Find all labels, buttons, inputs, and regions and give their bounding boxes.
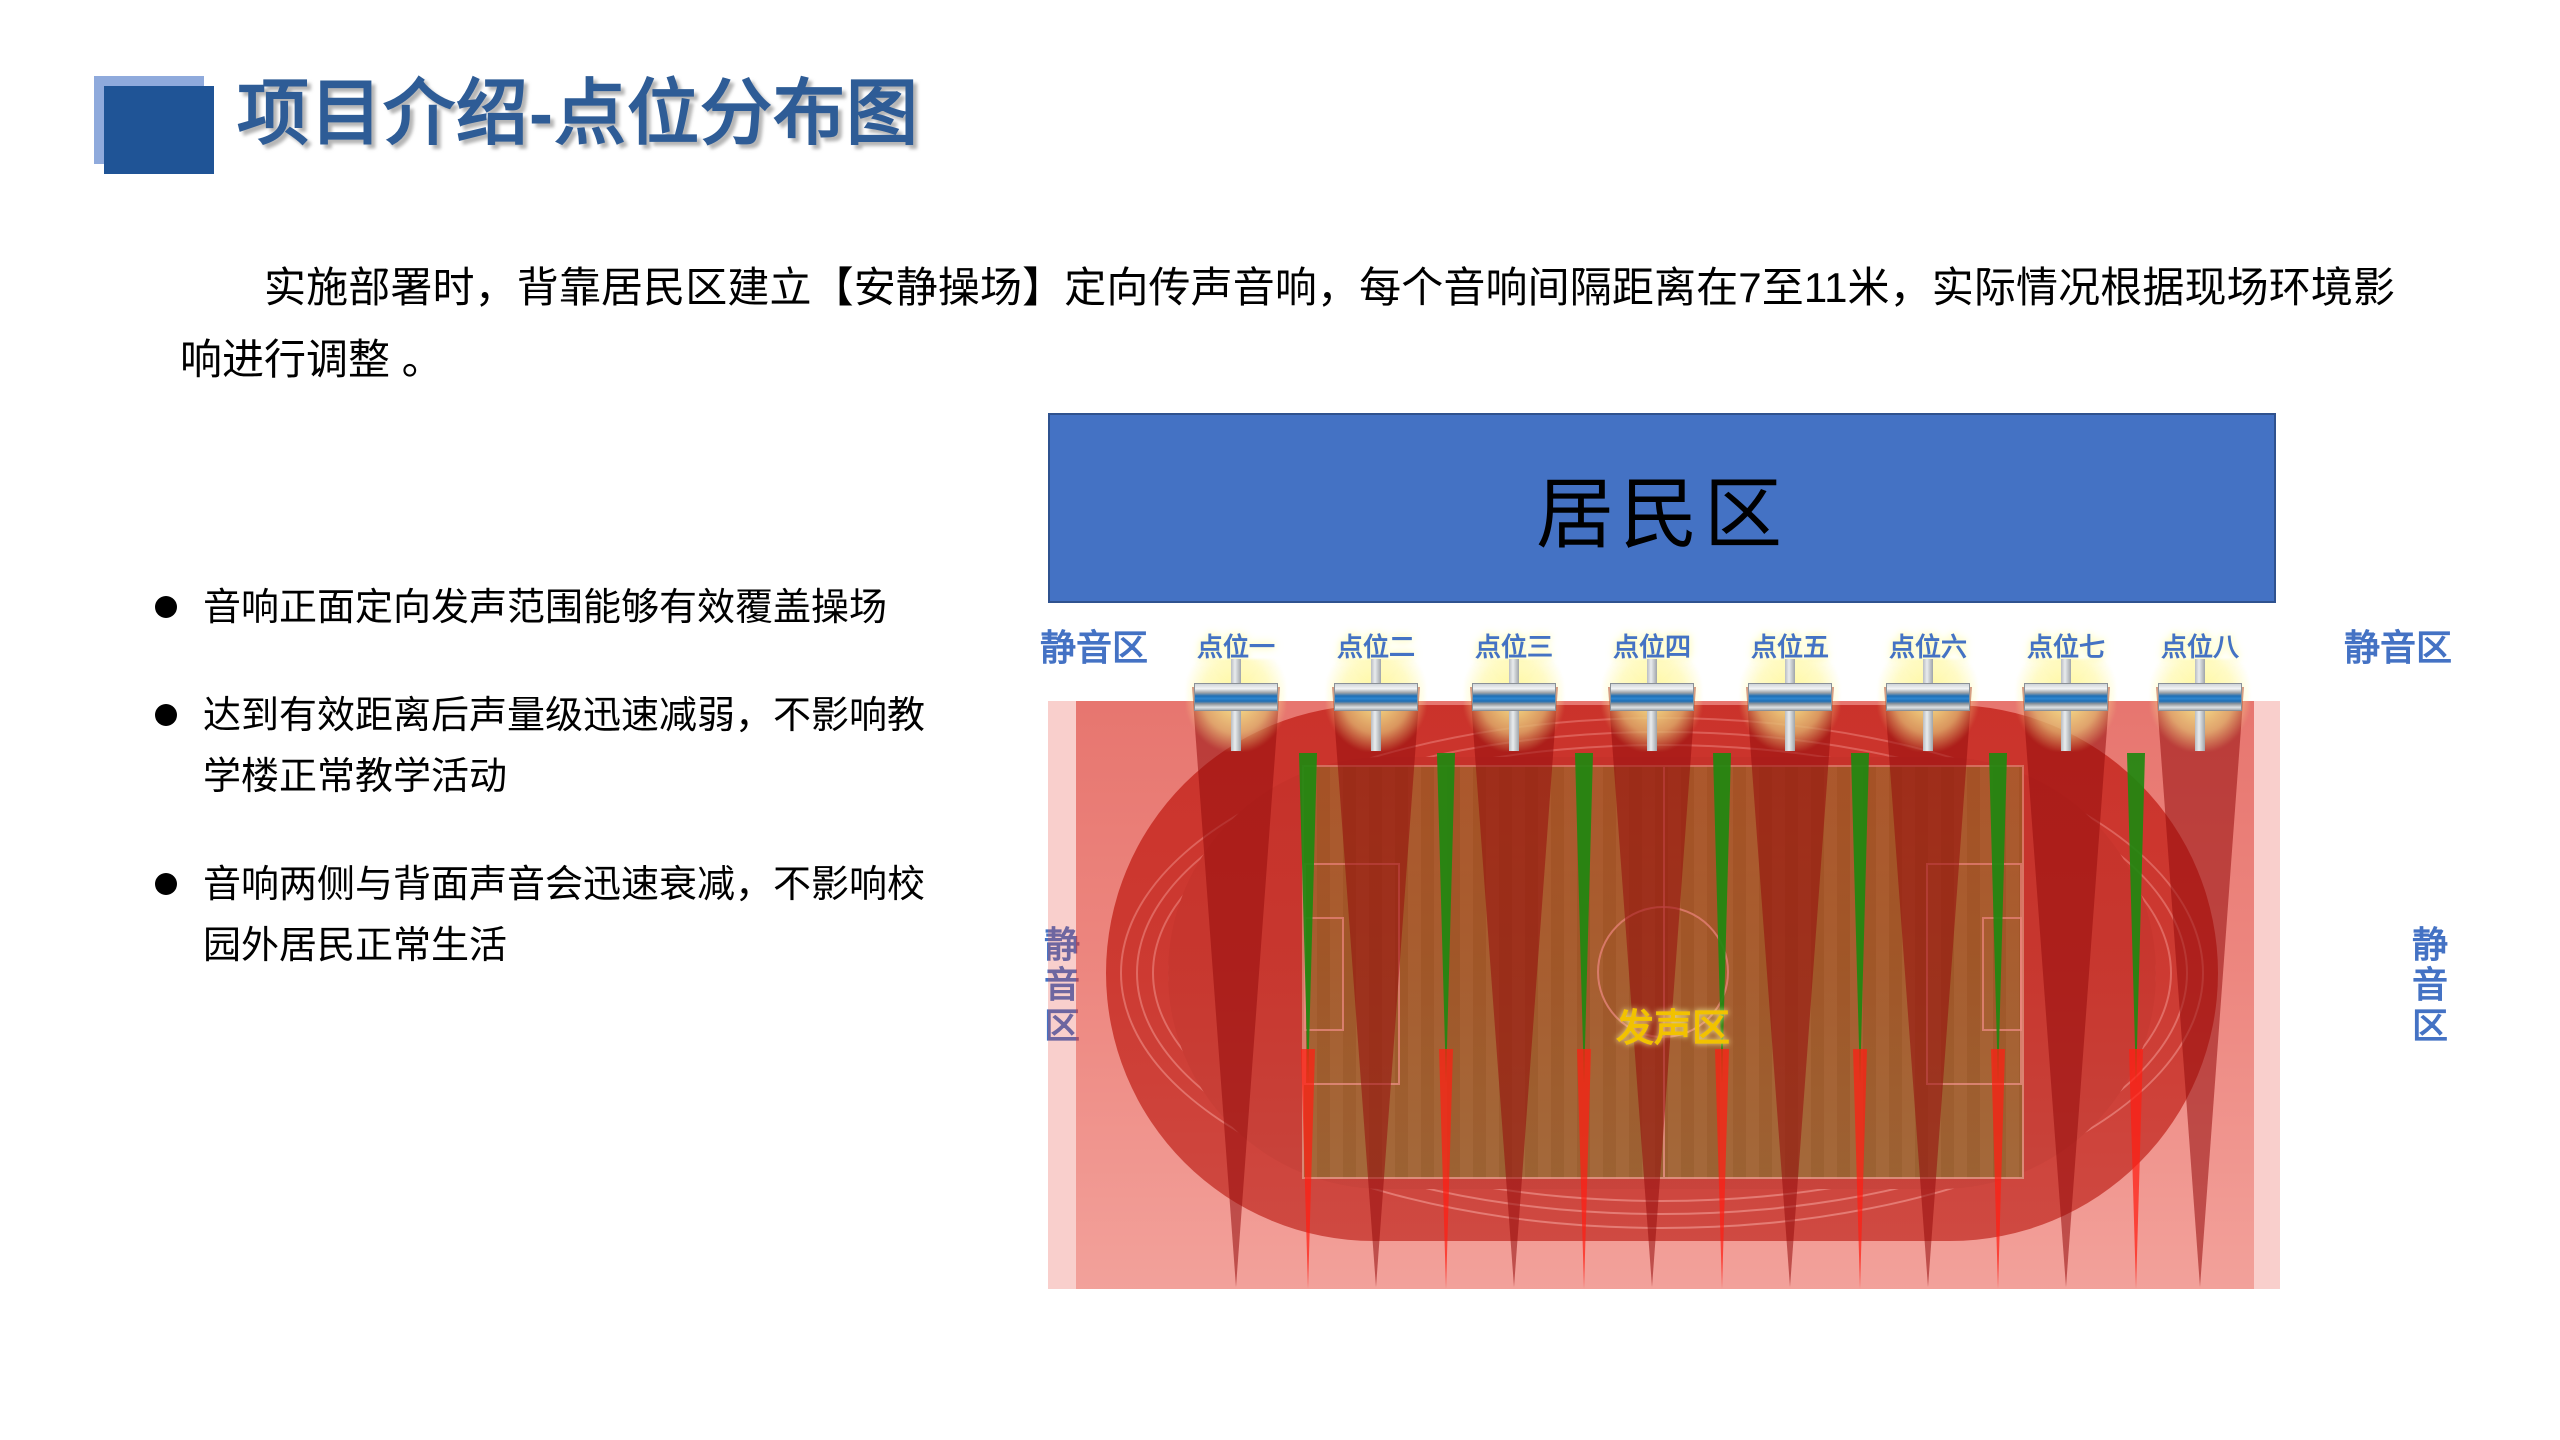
- speaker-icon-4[interactable]: [1592, 659, 1712, 751]
- sound-ray-5: [1853, 1049, 1867, 1289]
- bullet-dot-icon: [155, 596, 177, 618]
- speaker-body-icon: [1610, 683, 1694, 711]
- directional-beam-2: [1437, 753, 1455, 1083]
- speaker-body-icon: [1748, 683, 1832, 711]
- sound-ray-2: [1439, 1049, 1453, 1289]
- sound-back-lobe-2: [1332, 687, 1420, 1287]
- directional-beam-6: [1989, 753, 2007, 1083]
- speaker-icon-7[interactable]: [2006, 659, 2126, 751]
- speaker-icon-1[interactable]: [1176, 659, 1296, 751]
- sound-ray-7: [2129, 1049, 2143, 1289]
- sound-back-lobe-8: [2156, 687, 2244, 1287]
- sound-ray-4: [1715, 1049, 1729, 1289]
- sound-back-lobe-7: [2022, 687, 2110, 1287]
- title-accent-square: [104, 86, 214, 174]
- list-item: 音响两侧与背面声音会迅速衰减，不影响校 园外居民正常生活: [155, 855, 995, 978]
- directional-beam-5: [1851, 753, 1869, 1083]
- speaker-body-icon: [1886, 683, 1970, 711]
- speaker-icon-3[interactable]: [1454, 659, 1574, 751]
- speaker-icon-5[interactable]: [1730, 659, 1850, 751]
- directional-beam-3: [1575, 753, 1593, 1083]
- list-item-label: 达到有效距离后声量级迅速减弱，不影响教 学楼正常教学活动: [203, 686, 963, 809]
- directional-beam-7: [2127, 753, 2145, 1083]
- sound-back-lobe-3: [1470, 687, 1558, 1287]
- bullet-dot-icon: [155, 873, 177, 895]
- speaker-body-icon: [1194, 683, 1278, 711]
- sound-back-lobe-4: [1608, 687, 1696, 1287]
- quiet-zone-label-left: 静音区: [1040, 619, 1148, 671]
- residential-zone-banner: 居民区: [1048, 413, 2276, 603]
- bullet-dot-icon: [155, 704, 177, 726]
- speaker-icon-6[interactable]: [1868, 659, 1988, 751]
- slide-header: 项目介绍-点位分布图: [0, 60, 1200, 190]
- sound-zone-label: 发声区: [1616, 997, 1730, 1052]
- list-item: 达到有效距离后声量级迅速减弱，不影响教 学楼正常教学活动: [155, 686, 995, 809]
- list-item: 音响正面定向发声范围能够有效覆盖操场: [155, 578, 995, 640]
- quiet-zone-label-left-side: 静音区: [1040, 925, 1084, 1046]
- point-distribution-diagram: 居民区 静音区 点位一 点位二 点位三 点位四 点位五 点位六 点位七 点位八 …: [1040, 405, 2460, 1365]
- residential-zone-label: 居民区: [1536, 452, 1788, 564]
- speaker-icon-2[interactable]: [1316, 659, 1436, 751]
- quiet-zone-label-right: 静音区: [2344, 619, 2452, 671]
- list-item-label: 音响两侧与背面声音会迅速衰减，不影响校 园外居民正常生活: [203, 855, 963, 978]
- sound-ray-3: [1577, 1049, 1591, 1289]
- sound-ray-6: [1991, 1049, 2005, 1289]
- intro-paragraph: 实施部署时，背靠居民区建立【安静操场】定向传声音响，每个音响间隔距离在7至11米…: [180, 252, 2395, 396]
- quiet-zone-label-right-side: 静音区: [2408, 925, 2452, 1046]
- directional-beam-1: [1299, 753, 1317, 1083]
- speaker-body-icon: [2158, 683, 2242, 711]
- speaker-icon-8[interactable]: [2140, 659, 2260, 751]
- sound-ray-1: [1301, 1049, 1315, 1289]
- sound-back-lobe-6: [1884, 687, 1972, 1287]
- feature-bullet-list: 音响正面定向发声范围能够有效覆盖操场 达到有效距离后声量级迅速减弱，不影响教 学…: [155, 578, 995, 1024]
- page-title: 项目介绍-点位分布图: [237, 66, 919, 163]
- sound-back-lobe-5: [1746, 687, 1834, 1287]
- list-item-label: 音响正面定向发声范围能够有效覆盖操场: [203, 578, 887, 640]
- speaker-body-icon: [1334, 683, 1418, 711]
- speaker-body-icon: [2024, 683, 2108, 711]
- sound-back-lobe-1: [1192, 687, 1280, 1287]
- speaker-body-icon: [1472, 683, 1556, 711]
